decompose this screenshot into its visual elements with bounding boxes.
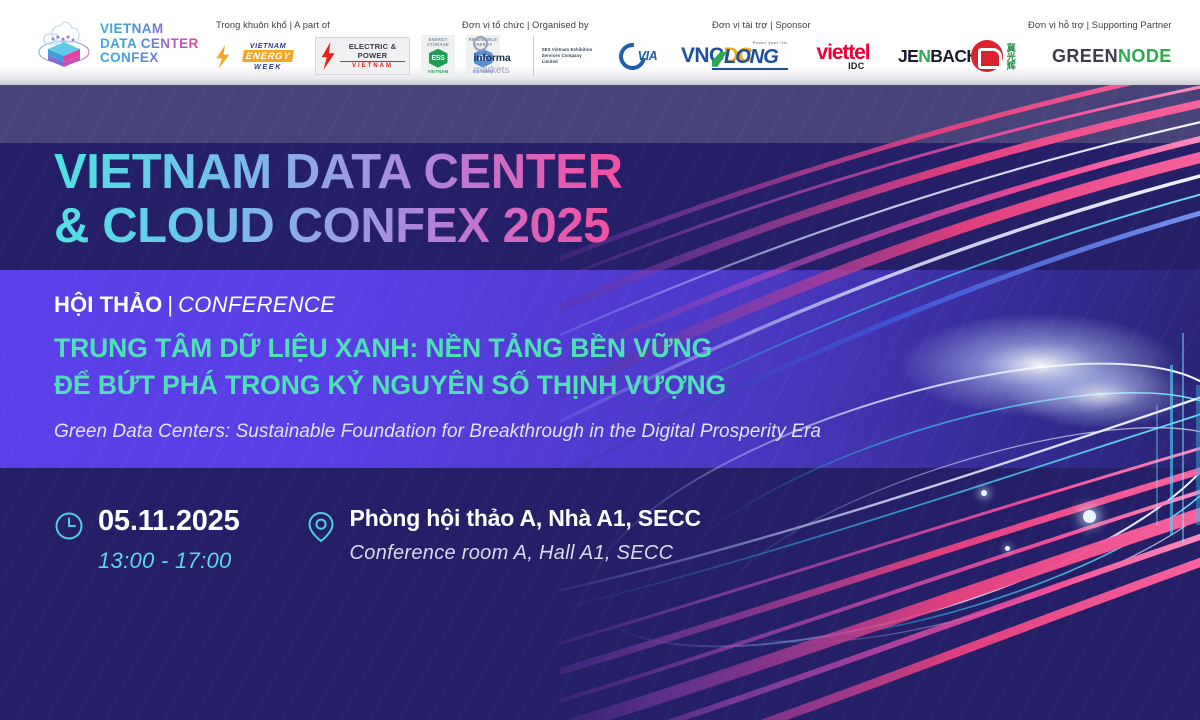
electric-power-vietnam-logo[interactable]: ELECTRIC & POWER VIETNAM	[315, 37, 410, 75]
vew-line3: WEEK	[243, 62, 293, 71]
event-title-line2: & CLOUD CONFEX 2025	[54, 200, 623, 254]
long-label: LONG	[724, 47, 778, 67]
partner-red-circle-logo[interactable]: 冀光辉	[962, 36, 1024, 76]
informa-line1: informa	[473, 53, 510, 64]
brand-logo-line1: VIETNAM	[100, 22, 199, 37]
cloud-datacenter-logo-icon	[36, 18, 92, 70]
informa-line2: markets	[473, 65, 510, 76]
logo-group-a-part-of: Trong khuôn khổ | A part of VIETNAM ENER…	[216, 20, 500, 77]
greennode-part1: GREEN	[1052, 46, 1118, 67]
conference-kicker: HỘI THẢO|CONFERENCE	[54, 292, 821, 318]
sponsor-logo-header: VIETNAM DATA CENTER CONFEX Trong khuôn k…	[0, 0, 1200, 85]
conference-block: HỘI THẢO|CONFERENCE TRUNG TÂM DỮ LIỆU XA…	[54, 292, 821, 443]
event-location: Phòng hội thảo A, Nhà A1, SECC	[350, 505, 701, 531]
conference-subtitle-en: Green Data Centers: Sustainable Foundati…	[54, 421, 821, 443]
greennode-logo[interactable]: GREENNODE	[1052, 36, 1172, 76]
event-date-detail: 05.11.2025 13:00 - 17:00	[54, 505, 240, 574]
conference-kicker-separator: |	[167, 292, 173, 317]
vew-line1: VIETNAM	[243, 41, 293, 50]
brand-logo[interactable]: VIETNAM DATA CENTER CONFEX	[36, 18, 199, 70]
jenbacher-part1: JE	[898, 46, 918, 67]
brand-logo-line3: CONFEX	[100, 51, 199, 66]
event-banner: VIETNAM DATA CENTER CONFEX Trong khuôn k…	[0, 0, 1200, 720]
event-date: 05.11.2025	[98, 505, 240, 538]
event-location-en: Conference room A, Hall A1, SECC	[350, 542, 701, 565]
brand-logo-line2: DATA CENTER	[100, 37, 199, 52]
event-title-block: VIETNAM DATA CENTER & CLOUD CONFEX 2025	[54, 146, 623, 254]
partner-chinese-characters: 冀光辉	[1005, 43, 1014, 70]
long-logo[interactable]: Power your life LONG	[712, 36, 788, 76]
map-pin-icon	[306, 511, 336, 548]
greennode-part2: NODE	[1118, 46, 1172, 67]
viettel-idc-logo[interactable]: viettel IDC	[806, 36, 880, 76]
via-logo[interactable]: VIA	[606, 36, 670, 76]
via-crescent-icon	[613, 37, 651, 75]
epv-line2: VIETNAM	[340, 61, 405, 70]
conference-title-line2: ĐỂ BỨT PHÁ TRONG KỶ NGUYÊN SỐ THỊNH VƯỢN…	[54, 367, 821, 404]
logo-group-label: Trong khuôn khổ | A part of	[216, 20, 500, 30]
viettel-label: viettel	[817, 42, 870, 63]
event-title-line1: VIETNAM DATA CENTER	[54, 146, 623, 200]
clock-icon	[54, 511, 84, 546]
conference-kicker-vi: HỘI THẢO	[54, 292, 162, 317]
vietnam-energy-week-logo[interactable]: VIETNAM ENERGY WEEK	[216, 36, 304, 76]
long-tagline: Power your life	[753, 41, 788, 45]
logo-group-sponsor: Đơn vị tài trợ | Sponsor Power your life…	[712, 20, 1002, 77]
logo-group-label: Đơn vị tổ chức | Organised by	[462, 20, 753, 30]
informa-markets-logo[interactable]: informa markets	[462, 36, 522, 76]
informa-ring-icon	[473, 36, 488, 51]
event-time: 13:00 - 17:00	[98, 548, 240, 573]
ess-vietnam-badge[interactable]: ENERGY STORAGE ESS VIETNAM	[421, 35, 455, 77]
event-details: 05.11.2025 13:00 - 17:00 Phòng hội thảo …	[54, 505, 701, 574]
vew-line2: ENERGY	[242, 50, 294, 62]
hexagon-icon: ESS	[429, 49, 448, 68]
ses-vietnam-logo[interactable]: SES Vietnam Exhibition Services Company …	[533, 36, 595, 76]
ses-line3: Limited	[542, 59, 593, 65]
conference-kicker-en: CONFERENCE	[178, 292, 335, 317]
banner-content: VIETNAM DATA CENTER & CLOUD CONFEX 2025 …	[0, 0, 1200, 720]
event-location-detail: Phòng hội thảo A, Nhà A1, SECC Conferenc…	[306, 505, 701, 565]
red-circle-icon	[971, 40, 1003, 72]
ess-top-label: ENERGY STORAGE	[427, 38, 449, 47]
logo-group-organised-by: Đơn vị tổ chức | Organised by informa ma…	[462, 20, 753, 77]
ess-mid-label: ESS	[431, 55, 444, 62]
logo-group-supporting-partner: Đơn vị hỗ trợ | Supporting Partner 冀光辉 G…	[962, 20, 1172, 77]
long-underline	[712, 68, 788, 70]
ess-bottom-label: VIETNAM	[428, 69, 449, 74]
lightning-bolt-icon	[214, 45, 233, 69]
logo-group-label: Đơn vị tài trợ | Sponsor	[712, 20, 1002, 30]
logo-group-label: Đơn vị hỗ trợ | Supporting Partner	[962, 20, 1172, 30]
conference-title-line1: TRUNG TÂM DỮ LIỆU XANH: NỀN TẢNG BỀN VỮN…	[54, 330, 821, 367]
epv-line1: ELECTRIC & POWER	[340, 42, 405, 60]
lightning-bolt-icon	[320, 42, 337, 70]
jenbacher-part2: N	[918, 46, 930, 67]
